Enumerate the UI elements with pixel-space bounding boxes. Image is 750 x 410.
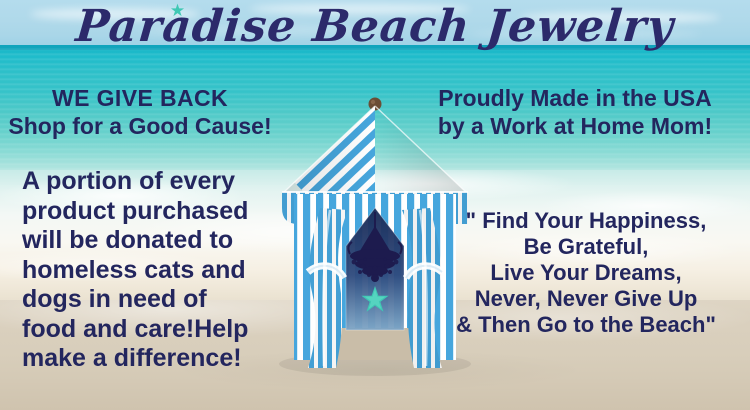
left-headline-line-2: Shop for a Good Cause! — [6, 112, 274, 140]
right-headline-line-2: by a Work at Home Mom! — [410, 112, 740, 140]
right-quote-line-3: Live Your Dreams, — [430, 260, 742, 286]
brand-title-wrap: Paradise Beach Jewelry — [0, 0, 750, 56]
left-body-line-3: will be donated to — [22, 226, 276, 256]
left-headline: WE GIVE BACK Shop for a Good Cause! — [6, 84, 274, 140]
left-body-line-1: A portion of every — [22, 167, 276, 197]
left-body-line-2: product purchased — [22, 197, 276, 227]
right-quote-line-1: " Find Your Happiness, — [430, 208, 742, 234]
right-headline: Proudly Made in the USA by a Work at Hom… — [410, 84, 740, 140]
brand-title: Paradise Beach Jewelry — [74, 0, 677, 56]
right-quote-line-4: Never, Never Give Up — [430, 286, 742, 312]
paradise-beach-jewelry-banner: Paradise Beach Jewelry WE GIVE BACK Shop… — [0, 0, 750, 410]
left-body-line-5: dogs in need of — [22, 285, 276, 315]
right-quote-line-5: & Then Go to the Beach" — [430, 312, 742, 338]
right-headline-line-1: Proudly Made in the USA — [410, 84, 740, 112]
right-quote-text: " Find Your Happiness, Be Grateful, Live… — [430, 208, 742, 338]
left-headline-line-1: WE GIVE BACK — [6, 84, 274, 112]
left-body-line-6: food and care!Help — [22, 315, 276, 345]
left-body-text: A portion of every product purchased wil… — [4, 167, 276, 374]
right-quote-line-2: Be Grateful, — [430, 234, 742, 260]
left-body-line-4: homeless cats and — [22, 256, 276, 286]
starfish-icon — [170, 3, 185, 18]
left-body-line-7: make a difference! — [22, 344, 276, 374]
